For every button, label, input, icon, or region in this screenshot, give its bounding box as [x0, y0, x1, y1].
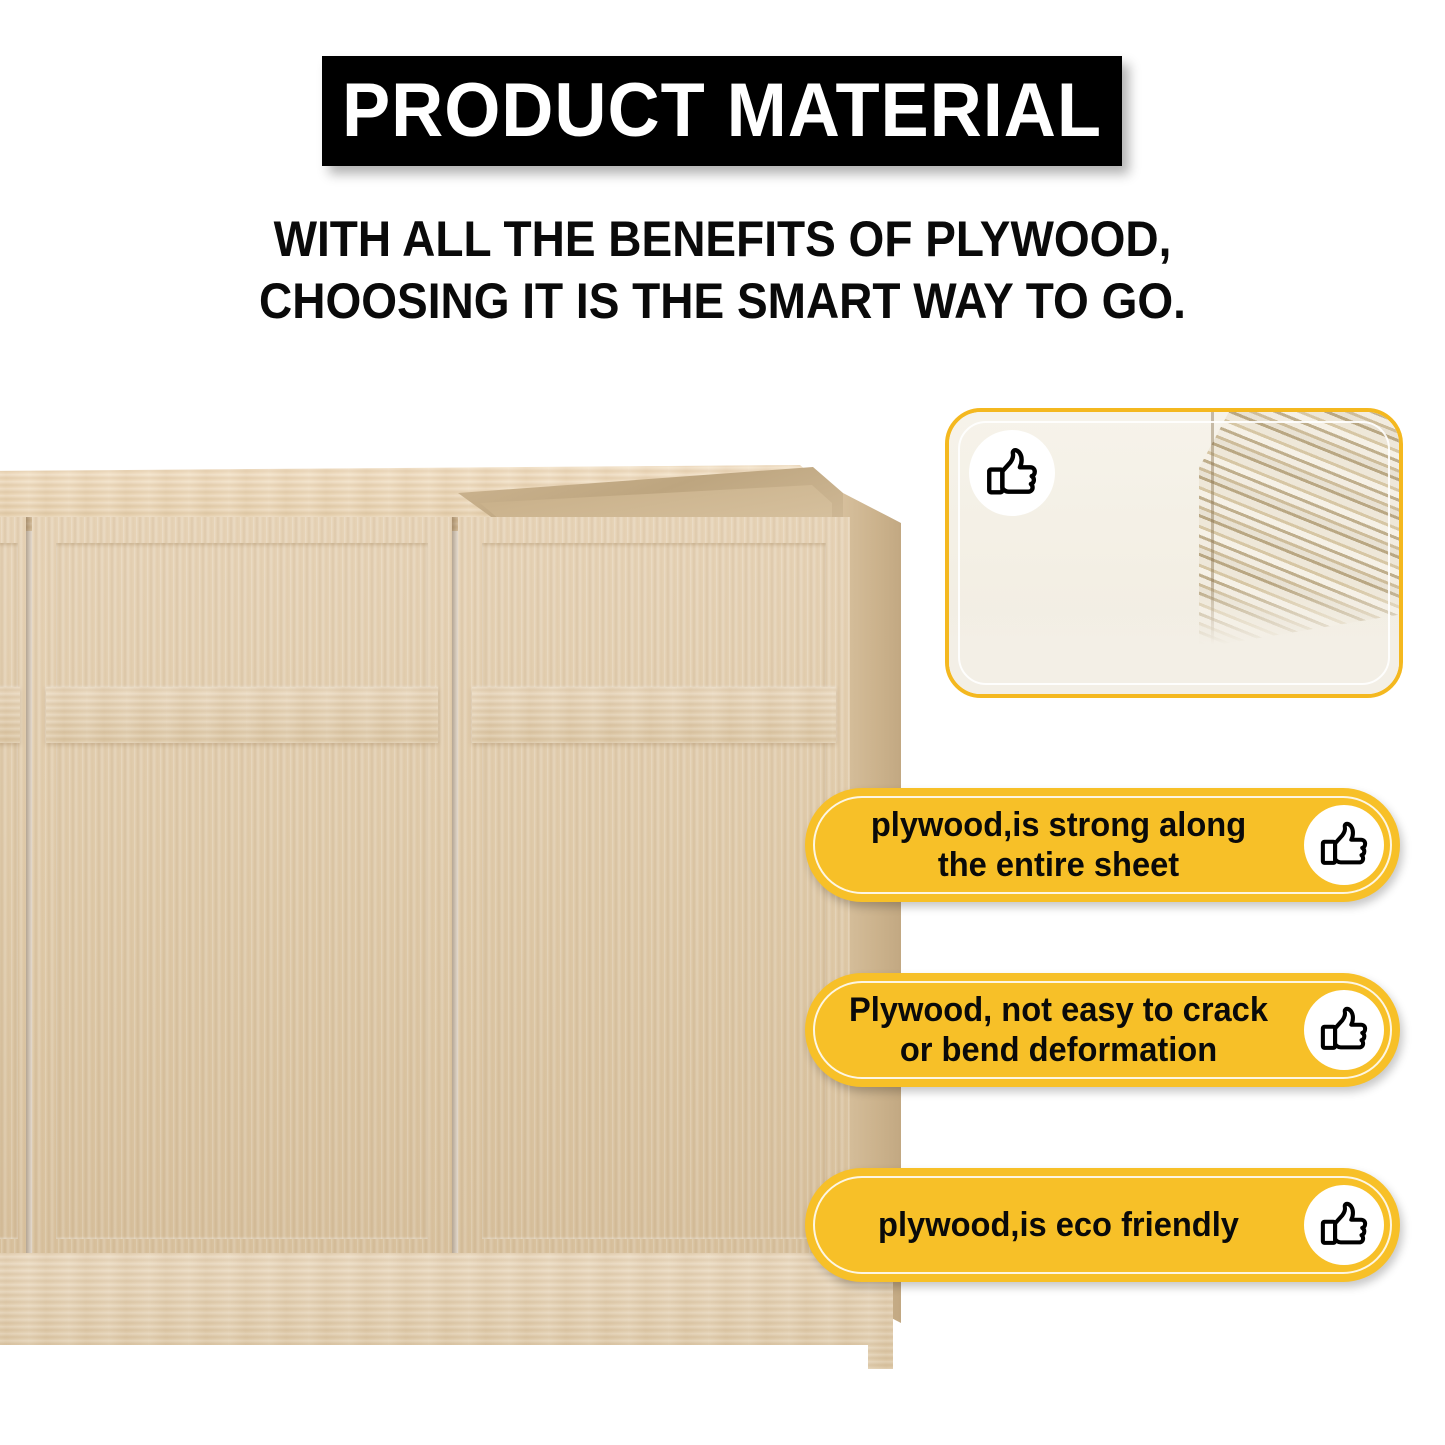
thumbs-up-glyph [984, 445, 1040, 501]
page-subtitle: WITH ALL THE BENEFITS OF PLYWOOD, CHOOSI… [168, 208, 1277, 332]
benefit-pill-eco-friendly[interactable]: plywood,is eco friendly [805, 1168, 1400, 1282]
cabinet-door-row [0, 517, 850, 1257]
door-panel [56, 543, 428, 1239]
plywood-photo-fade [949, 584, 1399, 694]
door-mid-rail [472, 687, 836, 743]
thumbs-up-glyph [1318, 1199, 1370, 1251]
thumbs-up-glyph [1318, 819, 1370, 871]
door-mid-rail [46, 687, 438, 743]
benefit-pill-strength[interactable]: plywood,is strong along the entire sheet [805, 788, 1400, 902]
page-title: PRODUCT MATERIAL [342, 73, 1102, 149]
thumbs-up-icon [1304, 1185, 1384, 1265]
benefit-pill-durability[interactable]: Plywood, not easy to crack or bend defor… [805, 973, 1400, 1087]
thumbs-up-icon [1304, 990, 1384, 1070]
cabinet-door-left-partial [0, 517, 26, 1257]
benefit-label: plywood,is strong along the entire sheet [844, 788, 1273, 902]
thumbs-up-icon [1304, 805, 1384, 885]
benefit-label: Plywood, not easy to crack or bend defor… [844, 973, 1273, 1087]
door-mid-rail [0, 687, 20, 743]
thumbs-up-icon [969, 430, 1055, 516]
benefit-label: plywood,is eco friendly [844, 1168, 1273, 1282]
thumbs-up-glyph [1318, 1004, 1370, 1056]
material-photo-card [945, 408, 1403, 698]
cabinet-base-toe-kick [0, 1253, 893, 1369]
door-panel [482, 543, 826, 1239]
cabinet-door-right [458, 517, 850, 1257]
cabinet-door-center [32, 517, 452, 1257]
product-image-cabinet [0, 455, 918, 1335]
door-panel [0, 543, 18, 1239]
page-title-banner: PRODUCT MATERIAL [322, 56, 1122, 166]
